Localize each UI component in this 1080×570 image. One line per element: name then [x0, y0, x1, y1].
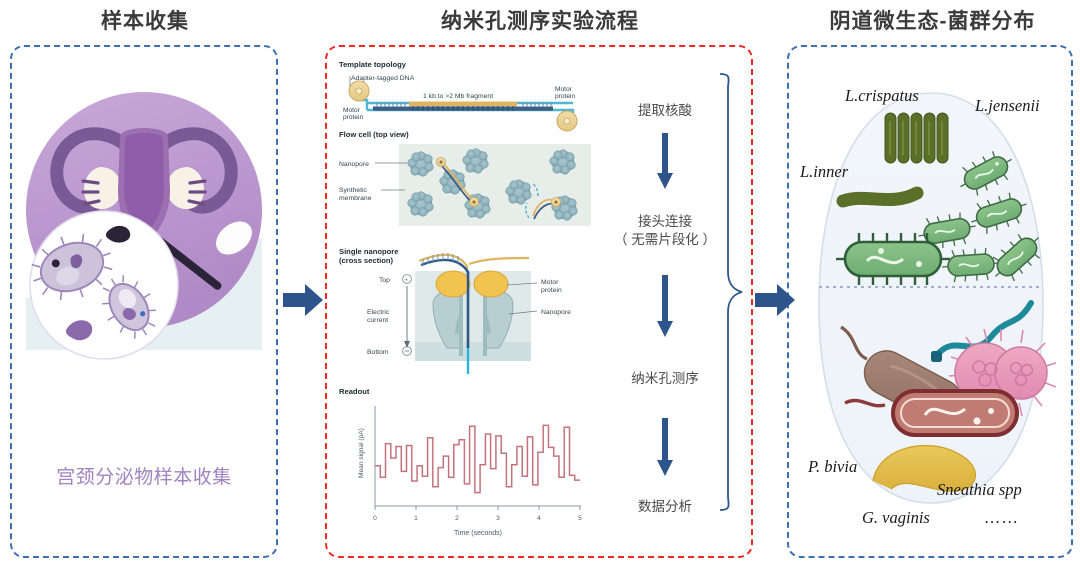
svg-text:protein: protein: [343, 114, 363, 121]
svg-text:+: +: [404, 278, 408, 284]
process-step-extract-nucleic-acid: 提取核酸: [600, 102, 730, 120]
svg-text:2: 2: [455, 515, 459, 522]
spirochete-head: [931, 351, 942, 362]
process-step-nanopore-sequencing: 纳米孔测序: [600, 370, 730, 388]
label-synthetic-membrane: Synthetic: [339, 187, 368, 194]
species-label-sneathia-spp: Sneathia spp: [937, 480, 1022, 500]
label-fragment-size: 1 kb to >2 Mb fragment: [423, 93, 493, 100]
sample-collection-illustration: [12, 55, 276, 455]
panel-title-nanopore-workflow: 纳米孔测序实验流程: [325, 5, 755, 35]
sample-collection-caption: 宫颈分泌物样本收集: [12, 462, 276, 489]
arrow-sequencing-to-microbiota: [755, 283, 795, 317]
panel-title-sample-collection: 样本收集: [0, 5, 290, 35]
label-nanopore-cross: Nanopore: [541, 309, 571, 316]
axis-label-x: Time (seconds): [454, 530, 502, 537]
axis-ticks-x: 0 1 2 3 4 5: [373, 515, 582, 522]
lactobacillus-cluster-icon: [885, 113, 948, 163]
process-arrow-3: [657, 418, 673, 476]
process-step-data-analysis: 数据分析: [600, 498, 730, 516]
red-outlined-rod-icon: [893, 391, 1017, 435]
label-top: Top: [379, 277, 390, 284]
diagram-root: 样本收集 纳米孔测序实验流程 阴道微生态-菌群分布: [0, 0, 1080, 570]
svg-text:protein: protein: [555, 93, 575, 100]
svg-text:current: current: [367, 317, 388, 324]
dna-template: [349, 81, 577, 131]
panel-title-microbiota-distribution: 阴道微生态-菌群分布: [785, 5, 1080, 35]
species-label-l-jensenii: L.jensenii: [975, 96, 1040, 116]
nanopore-sequencing-figure: Template topology Adapter-tagged DNA: [337, 58, 593, 546]
arrow-sample-to-sequencing: [283, 283, 323, 317]
svg-text:1: 1: [414, 515, 418, 522]
process-arrow-1: [657, 133, 673, 189]
svg-text:membrane: membrane: [339, 195, 372, 202]
label-template-topology: Template topology: [339, 60, 407, 69]
workflow-brace: [718, 72, 744, 512]
species-label-ellipsis: ……: [985, 508, 1020, 528]
svg-text:0: 0: [373, 515, 377, 522]
label-bottom: Bottom: [367, 349, 389, 356]
svg-text:3: 3: [496, 515, 500, 522]
label-motor-protein-left: Motor: [343, 107, 361, 114]
svg-text:(cross section): (cross section): [339, 256, 393, 265]
curved-rod-icon: [843, 193, 917, 201]
svg-text:4: 4: [537, 515, 541, 522]
label-nanopore-flowcell: Nanopore: [339, 161, 369, 168]
process-arrow-2: [657, 275, 673, 337]
species-label-l-inner: L.inner: [800, 162, 848, 182]
process-step-column: 提取核酸 接头连接 （ 无需片段化 ） 纳米孔测序 数据分析: [600, 70, 730, 540]
label-motor-protein-cross: Motor: [541, 279, 559, 286]
svg-text:protein: protein: [541, 287, 562, 294]
species-label-l-crispatus: L.crispatus: [845, 86, 919, 106]
label-readout: Readout: [339, 387, 370, 396]
species-label-g-vaginis: G. vaginis: [862, 508, 930, 528]
label-flow-cell: Flow cell (top view): [339, 130, 409, 139]
axis-label-y: Mean signal (pA): [358, 428, 365, 478]
label-motor-protein-right: Motor: [555, 86, 573, 93]
species-label-p-bivia: P. bivia: [808, 457, 857, 477]
label-single-nanopore: Single nanopore: [339, 247, 399, 256]
label-electric-current: Electric: [367, 309, 390, 316]
readout-chart: Mean signal (pA) 0 1 2 3 4 5 Time (secon…: [358, 406, 582, 537]
svg-text:5: 5: [578, 515, 582, 522]
process-step-adapter-ligation: 接头连接 （ 无需片段化 ）: [600, 213, 730, 249]
